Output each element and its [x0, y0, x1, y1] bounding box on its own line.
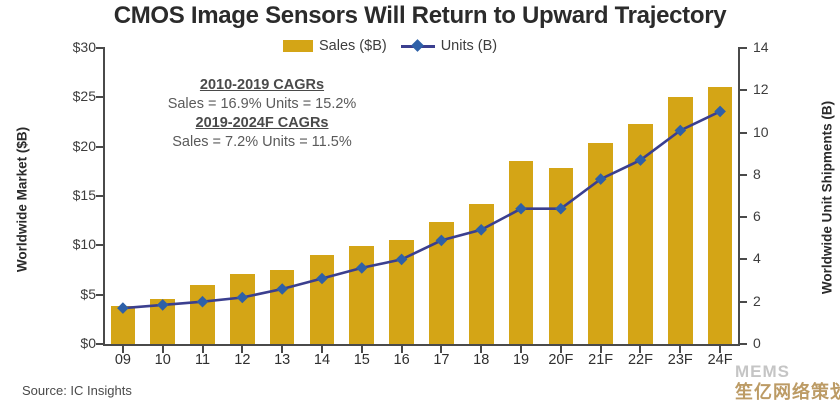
source-note: Source: IC Insights — [22, 383, 132, 398]
y-right-tick-label: 10 — [753, 124, 803, 140]
units-line-path — [123, 111, 720, 308]
y-right-tick-label: 2 — [753, 293, 803, 309]
units-marker-11[interactable] — [197, 296, 209, 308]
y-right-tick-label: 14 — [753, 39, 803, 55]
units-marker-10[interactable] — [157, 299, 169, 311]
units-marker-12[interactable] — [237, 292, 249, 304]
units-marker-14[interactable] — [316, 273, 328, 285]
y-left-tick-label: $20 — [36, 138, 96, 154]
chart-title: CMOS Image Sensors Will Return to Upward… — [0, 2, 840, 30]
units-marker-19[interactable] — [515, 203, 527, 215]
y-left-tick-label: $25 — [36, 88, 96, 104]
units-marker-24F[interactable] — [714, 106, 726, 118]
y-right-tick-label: 8 — [753, 166, 803, 182]
y-left-tick-label: $0 — [36, 335, 96, 351]
units-line-layer — [103, 48, 740, 345]
y-right-tick-label: 6 — [753, 208, 803, 224]
y-axis-title-right: Worldwide Unit Shipments (B) — [820, 83, 835, 313]
y-left-tick-label: $5 — [36, 286, 96, 302]
units-marker-17[interactable] — [436, 235, 448, 247]
units-marker-09[interactable] — [117, 302, 129, 314]
units-marker-16[interactable] — [396, 254, 408, 266]
chart-root: CMOS Image Sensors Will Return to Upward… — [0, 0, 840, 409]
plot-area: $0$5$10$15$20$25$30 02468101214 09101112… — [103, 48, 740, 345]
y-left-tick-label: $15 — [36, 187, 96, 203]
units-marker-15[interactable] — [356, 262, 368, 274]
y-right-tick-label: 12 — [753, 81, 803, 97]
y-left-tick-label: $30 — [36, 39, 96, 55]
units-marker-18[interactable] — [475, 224, 487, 236]
y-right-tick-label: 0 — [753, 335, 803, 351]
units-marker-13[interactable] — [276, 283, 288, 295]
y-left-tick-label: $10 — [36, 236, 96, 252]
y-right-tick-label: 4 — [753, 250, 803, 266]
watermark-cn: 笙亿网络策划 — [735, 378, 840, 404]
y-axis-title-left: Worldwide Market ($B) — [15, 100, 30, 300]
